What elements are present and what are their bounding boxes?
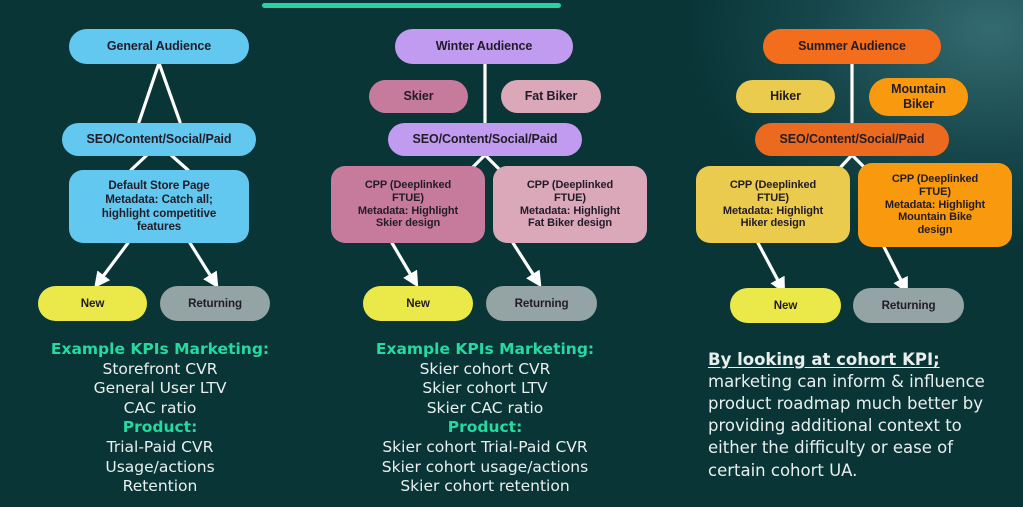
node-label: SEO/Content/Social/Paid bbox=[413, 132, 558, 147]
kpi-item: Skier cohort retention bbox=[340, 477, 630, 497]
node-label: New bbox=[81, 297, 105, 311]
node-label: New bbox=[406, 297, 430, 311]
node-label: SEO/Content/Social/Paid bbox=[87, 132, 232, 147]
kpi-item: Retention bbox=[20, 477, 300, 497]
kpi-item: CAC ratio bbox=[20, 399, 300, 419]
node-summer-new[interactable]: New bbox=[730, 288, 841, 323]
cohort-kpi-note: By looking at cohort KPI; marketing can … bbox=[708, 349, 996, 482]
kpi-marketing-heading: Example KPIs Marketing: bbox=[20, 340, 300, 360]
kpi-item: Usage/actions bbox=[20, 458, 300, 478]
kpi-product-heading: Product: bbox=[20, 418, 300, 438]
node-label-line: FTUE) bbox=[392, 192, 424, 205]
node-label-line: Metadata: Highlight bbox=[520, 205, 620, 218]
node-general-new[interactable]: New bbox=[38, 286, 147, 321]
node-label: New bbox=[774, 299, 798, 313]
node-summer-audience[interactable]: Summer Audience bbox=[763, 29, 941, 64]
node-summer-cpp-hiker[interactable]: CPP (Deeplinked FTUE) Metadata: Highligh… bbox=[696, 166, 850, 243]
node-winter-returning[interactable]: Returning bbox=[486, 286, 597, 321]
node-label-line: Hiker design bbox=[741, 217, 806, 230]
kpi-item: Skier CAC ratio bbox=[340, 399, 630, 419]
node-summer-channel[interactable]: SEO/Content/Social/Paid bbox=[755, 123, 949, 156]
node-label: Winter Audience bbox=[436, 39, 533, 54]
node-summer-cpp-mountain-bike[interactable]: CPP (Deeplinked FTUE) Metadata: Highligh… bbox=[858, 163, 1012, 247]
node-general-audience[interactable]: General Audience bbox=[69, 29, 249, 64]
note-heading: By looking at cohort KPI; bbox=[708, 350, 940, 369]
kpi-item: Trial-Paid CVR bbox=[20, 438, 300, 458]
node-winter-new[interactable]: New bbox=[363, 286, 473, 321]
node-label-line: design bbox=[918, 224, 953, 237]
kpi-product-heading: Product: bbox=[340, 418, 630, 438]
kpi-item: Skier cohort LTV bbox=[340, 379, 630, 399]
node-label: Fat Biker bbox=[525, 89, 578, 104]
node-general-channel[interactable]: SEO/Content/Social/Paid bbox=[62, 123, 256, 156]
note-body: marketing can inform & influence product… bbox=[708, 372, 985, 479]
node-label-line: CPP (Deeplinked bbox=[730, 179, 816, 192]
node-general-store-page[interactable]: Default Store Page Metadata: Catch all; … bbox=[69, 170, 249, 243]
node-label-line: FTUE) bbox=[919, 186, 951, 199]
kpi-block-winter: Example KPIs Marketing: Skier cohort CVR… bbox=[340, 340, 630, 497]
node-label: SEO/Content/Social/Paid bbox=[780, 132, 925, 147]
node-summer-segment-mountain-biker[interactable]: Mountain Biker bbox=[869, 78, 968, 116]
node-winter-segment-fat-biker[interactable]: Fat Biker bbox=[501, 80, 601, 113]
node-winter-audience[interactable]: Winter Audience bbox=[395, 29, 573, 64]
kpi-block-general: Example KPIs Marketing: Storefront CVR G… bbox=[20, 340, 300, 497]
node-label-line: Biker bbox=[903, 97, 934, 112]
kpi-item: Skier cohort Trial-Paid CVR bbox=[340, 438, 630, 458]
node-label-line: Fat Biker design bbox=[528, 217, 612, 230]
node-label: Returning bbox=[882, 299, 936, 313]
kpi-marketing-heading: Example KPIs Marketing: bbox=[340, 340, 630, 360]
node-label: Skier bbox=[403, 89, 433, 104]
node-winter-cpp-fat-biker[interactable]: CPP (Deeplinked FTUE) Metadata: Highligh… bbox=[493, 166, 647, 243]
node-summer-segment-hiker[interactable]: Hiker bbox=[736, 80, 835, 113]
diagram-canvas: General Audience SEO/Content/Social/Paid… bbox=[0, 0, 1023, 507]
node-label: Summer Audience bbox=[798, 39, 906, 54]
node-label: General Audience bbox=[107, 39, 211, 54]
node-label: Returning bbox=[188, 297, 242, 311]
kpi-item: Skier cohort usage/actions bbox=[340, 458, 630, 478]
kpi-item: Storefront CVR bbox=[20, 360, 300, 380]
node-winter-cpp-skier[interactable]: CPP (Deeplinked FTUE) Metadata: Highligh… bbox=[331, 166, 485, 243]
node-general-returning[interactable]: Returning bbox=[160, 286, 270, 321]
node-label-line: CPP (Deeplinked bbox=[527, 179, 613, 192]
node-label-line: FTUE) bbox=[757, 192, 789, 205]
node-winter-channel[interactable]: SEO/Content/Social/Paid bbox=[388, 123, 582, 156]
node-label-line: Metadata: Catch all; bbox=[105, 193, 213, 207]
node-label-line: CPP (Deeplinked bbox=[892, 173, 978, 186]
node-label-line: Metadata: Highlight bbox=[358, 205, 458, 218]
node-label-line: CPP (Deeplinked bbox=[365, 179, 451, 192]
node-label-line: Metadata: Highlight bbox=[885, 199, 985, 212]
node-label-line: FTUE) bbox=[554, 192, 586, 205]
node-label-line: Mountain Bike bbox=[898, 211, 972, 224]
node-label-line: Mountain bbox=[891, 82, 946, 97]
node-label: Hiker bbox=[770, 89, 801, 104]
node-label-line: Default Store Page bbox=[108, 179, 209, 193]
node-label-line: Metadata: Highlight bbox=[723, 205, 823, 218]
kpi-item: General User LTV bbox=[20, 379, 300, 399]
node-label-line: Skier design bbox=[376, 217, 440, 230]
node-winter-segment-skier[interactable]: Skier bbox=[369, 80, 468, 113]
kpi-item: Skier cohort CVR bbox=[340, 360, 630, 380]
node-summer-returning[interactable]: Returning bbox=[853, 288, 964, 323]
node-label-line: features bbox=[137, 220, 181, 234]
node-label-line: highlight competitive bbox=[102, 207, 216, 221]
node-label: Returning bbox=[515, 297, 569, 311]
